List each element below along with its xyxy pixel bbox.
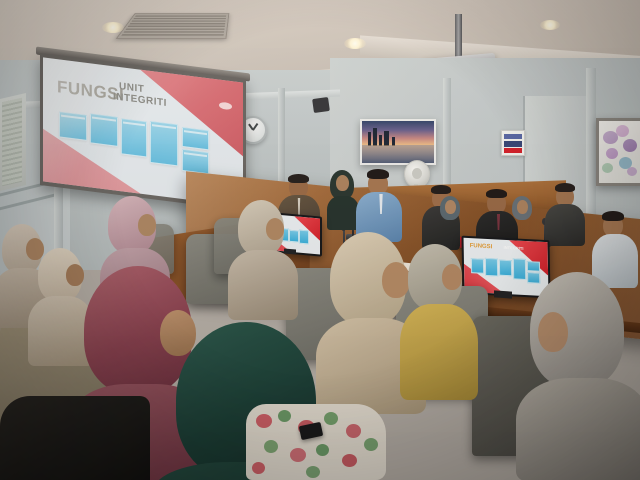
window-blind-slats — [2, 98, 22, 187]
projector-mount-pole — [455, 14, 462, 60]
recessed-downlight — [102, 22, 124, 33]
recessed-downlight — [540, 20, 560, 30]
monitor-slide-title: FUNGSI — [470, 243, 493, 250]
recessed-downlight — [344, 38, 366, 49]
audience-member — [0, 396, 150, 480]
wall-speaker — [312, 97, 330, 113]
air-conditioning-vent — [116, 13, 230, 39]
meeting-room-photo: FUNGSI UNIT INTEGRITI — [0, 0, 640, 480]
wall-sign — [501, 130, 525, 156]
framed-floral-painting — [596, 118, 640, 186]
monitor-slide-subtitle: INTEGRITI — [504, 245, 524, 251]
floral-fabric — [246, 404, 386, 480]
framed-sunset-photo — [360, 119, 436, 165]
wall-pilaster — [443, 78, 451, 198]
monitor-stand — [494, 290, 512, 298]
monitor-stand — [284, 248, 296, 254]
